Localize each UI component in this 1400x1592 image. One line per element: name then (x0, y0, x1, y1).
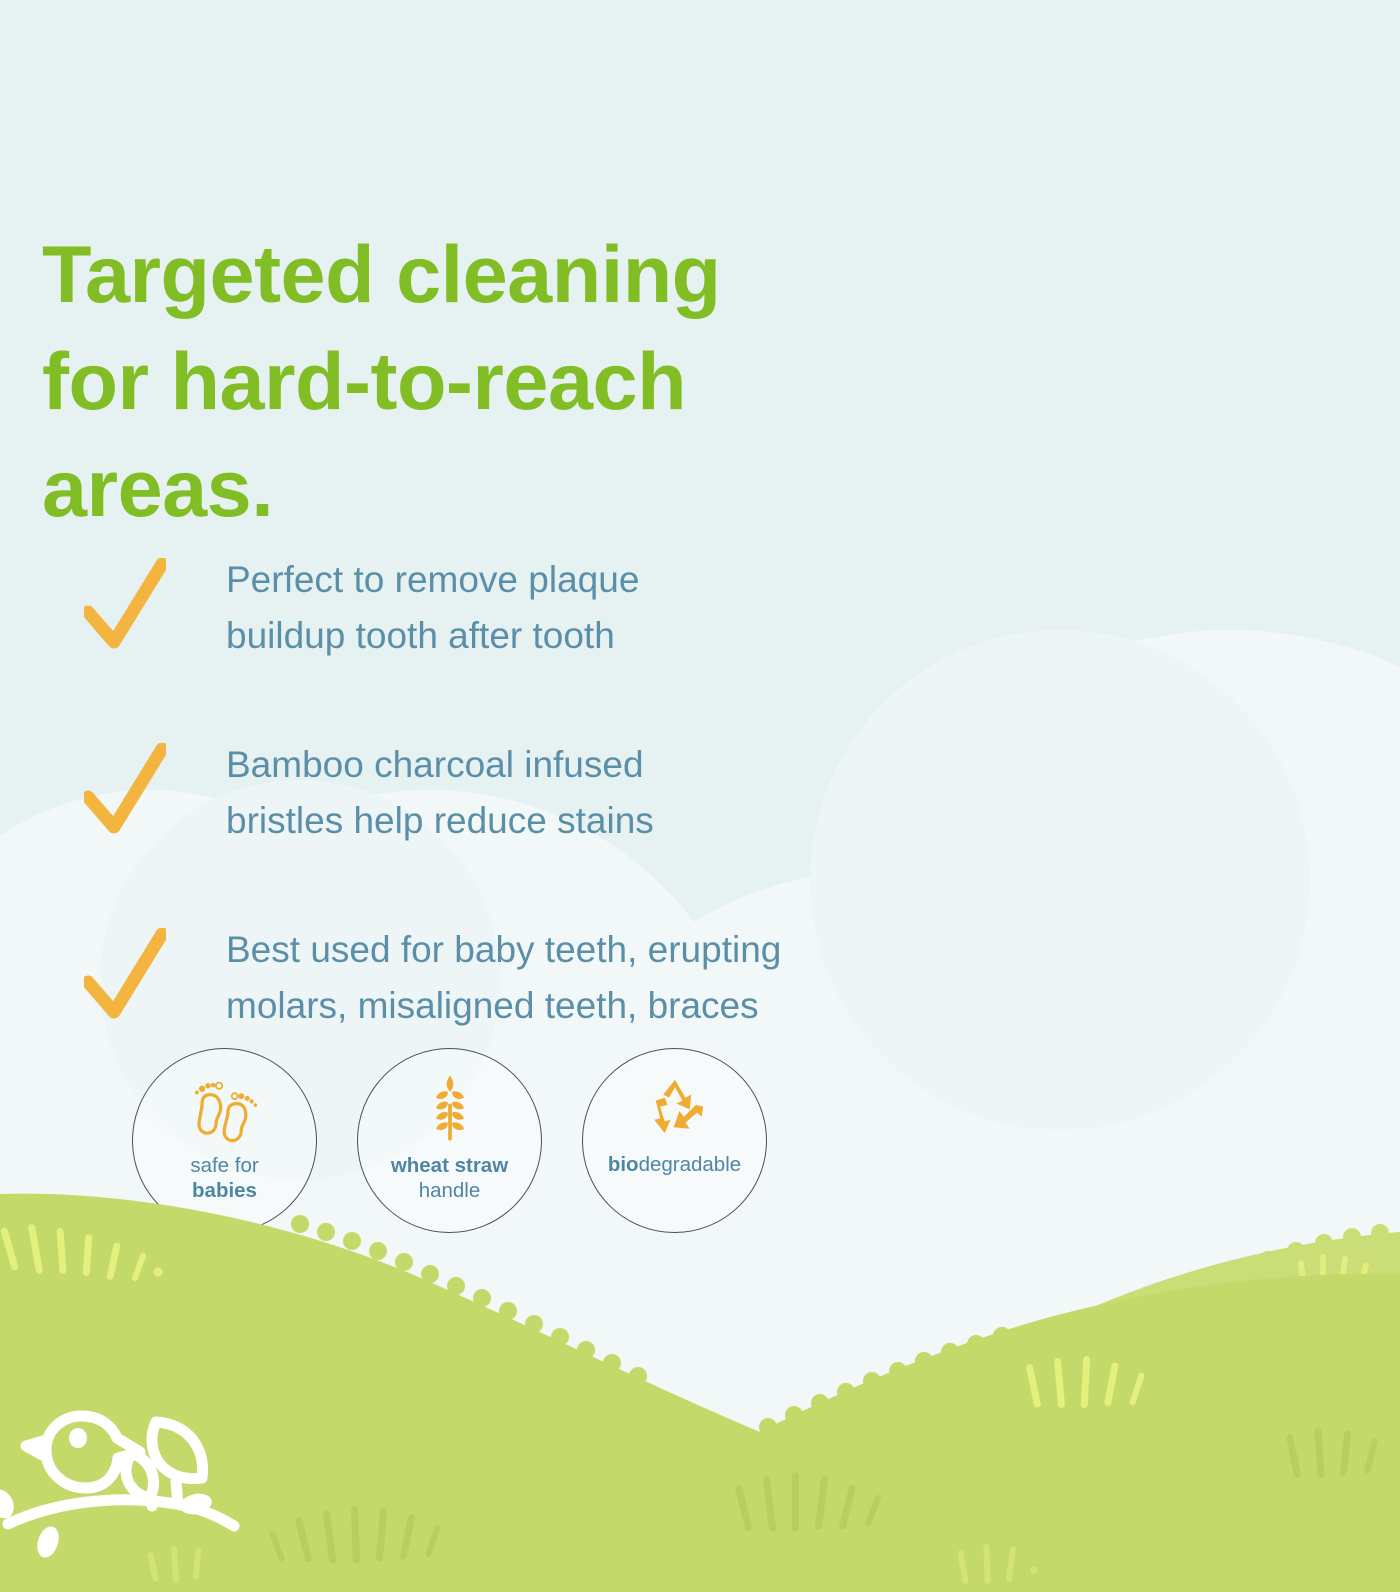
checkmark-icon (84, 928, 166, 1020)
bullet-2-line-2: bristles help reduce stains (226, 793, 984, 849)
list-item-text: Best used for baby teeth, erupting molar… (226, 922, 984, 1033)
bullet-1-line-1: Perfect to remove plaque (226, 552, 984, 608)
list-item: Perfect to remove plaque buildup tooth a… (84, 552, 984, 663)
list-item-text: Bamboo charcoal infused bristles help re… (226, 737, 984, 848)
checkmark-icon (84, 558, 166, 650)
infographic-canvas: Targeted cleaning for hard-to-reach area… (0, 0, 1400, 1592)
headline-line-3: areas. (42, 436, 862, 543)
list-item: Bamboo charcoal infused bristles help re… (84, 737, 984, 848)
list-item: Best used for baby teeth, erupting molar… (84, 922, 984, 1033)
bullet-2-line-1: Bamboo charcoal infused (226, 737, 984, 793)
headline-line-1: Targeted cleaning (42, 222, 862, 329)
hills-foreground (0, 1132, 1400, 1592)
bullet-3-line-1: Best used for baby teeth, erupting (226, 922, 984, 978)
bullet-1-line-2: buildup tooth after tooth (226, 608, 984, 664)
bullet-3-line-2: molars, misaligned teeth, braces (226, 978, 984, 1034)
list-item-text: Perfect to remove plaque buildup tooth a… (226, 552, 984, 663)
feature-list: Perfect to remove plaque buildup tooth a… (84, 552, 984, 1033)
page-title: Targeted cleaning for hard-to-reach area… (42, 222, 862, 543)
checkmark-icon (84, 743, 166, 835)
headline-line-2: for hard-to-reach (42, 329, 862, 436)
